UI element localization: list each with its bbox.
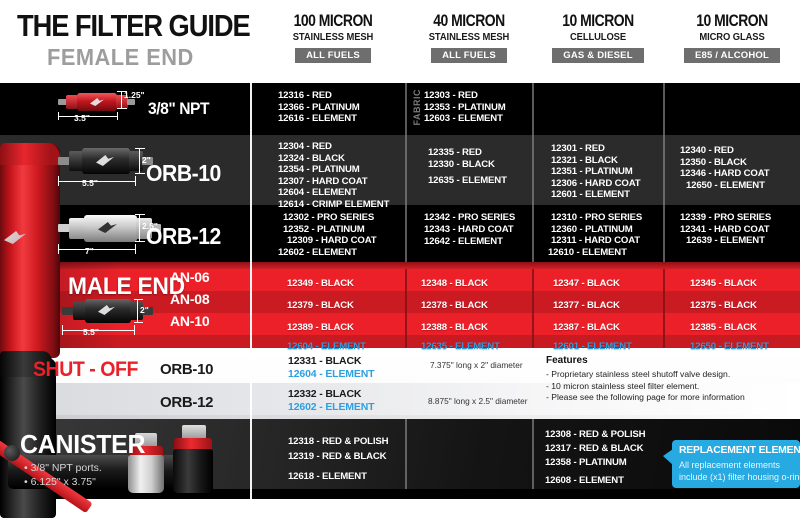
column-fuel-badge: ALL FUELS (295, 48, 371, 64)
part-line: 12339 - PRO SERIES (680, 212, 771, 224)
cell-male-100micron: 12349 - BLACK 12379 - BLACK 12389 - BLAC… (287, 273, 366, 355)
column-media-label: STAINLESS MESH (410, 32, 528, 43)
guide-table: 3.5" 1.25" 5.5" 2" (0, 83, 800, 499)
element-line: 12604 - ELEMENT (278, 187, 389, 199)
part-line: 12345 - BLACK (690, 273, 769, 295)
part-line: 12385 - BLACK (690, 317, 769, 339)
row-label-orb10: ORB-10 (146, 160, 221, 187)
part-line: 12375 - BLACK (690, 295, 769, 317)
column-media-label: STAINLESS MESH (265, 32, 400, 43)
part-line: 12341 - HARD COAT (680, 224, 771, 236)
column-header-40-micron: 40 MICRON STAINLESS MESH ALL FUELS (406, 12, 532, 63)
part-line: 12347 - BLACK (553, 273, 632, 295)
cell-orb12-100micron: 12302 - PRO SERIES 12352 - PLATINUM 1230… (283, 212, 377, 258)
cell-orb10-10micron-cellulose: 12301 - RED 12321 - BLACK 12351 - PLATIN… (551, 143, 641, 201)
feature-line: - Please see the following page for more… (546, 392, 745, 404)
cell-orb12-10micron-cellulose: 12310 - PRO SERIES 12360 - PLATINUM 1231… (551, 212, 642, 258)
main-vertical-divider (250, 83, 252, 499)
part-line: 12309 - HARD COAT (287, 235, 377, 247)
part-line: 12387 - BLACK (553, 317, 632, 339)
section-subtitle-female-end: FEMALE END (47, 44, 194, 71)
section-title-male-end: MALE END (68, 273, 185, 301)
part-line: 12352 - PLATINUM (283, 224, 377, 236)
column-micron-label: 10 MICRON (676, 12, 788, 30)
row-label-shutoff-orb10: ORB-10 (160, 361, 213, 378)
part-line: 12324 - BLACK (278, 153, 389, 165)
red-canister-cap (0, 143, 60, 165)
features-list: - Proprietary stainless steel shutoff va… (546, 369, 745, 404)
part-line: 12321 - BLACK (551, 155, 641, 167)
red-canister-photo (0, 143, 60, 358)
callout-heading: REPLACEMENT ELEMENTS (679, 445, 800, 456)
part-line: 12332 - BLACK (288, 388, 374, 401)
cell-orb10-40micron: 12335 - RED 12330 - BLACK 12635 - ELEMEN… (428, 147, 507, 187)
part-line: 12308 - RED & POLISH (545, 428, 645, 442)
column-divider-2 (532, 83, 534, 262)
column-header-10-micron-micro-glass: 10 MICRON MICRO GLASS E85 / ALCOHOL (664, 12, 800, 63)
column-fuel-badge: ALL FUELS (431, 48, 507, 64)
part-line: 12388 - BLACK (421, 317, 500, 339)
element-line: 12616 - ELEMENT (278, 113, 360, 125)
header: THE FILTER GUIDE FEMALE END 100 MICRON S… (0, 0, 800, 83)
canister-bullets: • 3/8" NPT ports. • 6.125" x 3.75" (24, 461, 102, 489)
callout-body: All replacement elements include (x1) fi… (679, 460, 800, 483)
part-line: 12335 - RED (428, 147, 507, 159)
column-micron-label: 10 MICRON (545, 12, 652, 30)
element-line: 12601 - ELEMENT (553, 339, 632, 355)
column-divider-canister-1 (405, 419, 407, 489)
part-line: 12331 - BLACK (288, 355, 374, 368)
part-line: 12319 - RED & BLACK (288, 449, 388, 464)
part-line: 12351 - PLATINUM (551, 166, 641, 178)
part-line: 12350 - BLACK (680, 157, 770, 169)
column-media-label: MICRO GLASS (668, 32, 796, 43)
part-line: 12303 - RED (424, 90, 506, 102)
row-label-npt: 3/8" NPT (148, 99, 209, 119)
canister-bullet-1: • 3/8" NPT ports. (24, 461, 102, 475)
part-line: 12389 - BLACK (287, 317, 366, 339)
part-line: 12317 - RED & BLACK (545, 442, 645, 456)
part-line: 12353 - PLATINUM (424, 102, 506, 114)
feature-line: - 10 micron stainless steel filter eleme… (546, 381, 745, 393)
cell-male-40micron: 12348 - BLACK 12378 - BLACK 12388 - BLAC… (421, 273, 500, 355)
column-micron-label: 100 MICRON (274, 12, 392, 30)
cell-npt-100micron: 12316 - RED 12366 - PLATINUM 12616 - ELE… (278, 90, 360, 125)
fabric-tag: FABRIC (412, 89, 422, 126)
section-title-shut-off: SHUT - OFF (33, 358, 138, 382)
part-line: 12310 - PRO SERIES (551, 212, 642, 224)
element-line: 12603 - ELEMENT (424, 113, 506, 125)
shutoff-dims-orb12: 8.875" long x 2.5" diameter (428, 396, 528, 406)
column-header-10-micron-cellulose: 10 MICRON CELLULOSE GAS & DIESEL (533, 12, 663, 63)
part-line: 12316 - RED (278, 90, 360, 102)
feature-line: - Proprietary stainless steel shutoff va… (546, 369, 745, 381)
element-line: 12650 - ELEMENT (690, 339, 769, 355)
part-line: 12366 - PLATINUM (278, 102, 360, 114)
element-line: 12614 - CRIMP ELEMENT (278, 199, 389, 211)
part-line: 12330 - BLACK (428, 159, 507, 171)
column-micron-label: 40 MICRON (417, 12, 520, 30)
element-line: 12601 - ELEMENT (551, 189, 641, 201)
part-line: 12302 - PRO SERIES (283, 212, 377, 224)
element-line: 12602 - ELEMENT (278, 247, 377, 259)
column-divider-3 (663, 83, 665, 262)
part-line: 12304 - RED (278, 141, 389, 153)
page-title: THE FILTER GUIDE (17, 8, 250, 44)
column-fuel-badge: E85 / ALCOHOL (684, 48, 780, 64)
dim-length-label: 7" (85, 246, 94, 256)
part-line: 12377 - BLACK (553, 295, 632, 317)
element-line: 12610 - ELEMENT (548, 247, 642, 259)
column-divider-male-2 (532, 269, 534, 348)
part-line: 12354 - PLATINUM (278, 164, 389, 176)
part-line: 12349 - BLACK (287, 273, 366, 295)
part-line: 12306 - HARD COAT (551, 178, 641, 190)
column-header-100-micron: 100 MICRON STAINLESS MESH ALL FUELS (261, 12, 405, 63)
callout-body-line-2: include (x1) filter housing o-ring (679, 472, 800, 484)
dim-length-label: 5.5" (82, 178, 98, 188)
callout-body-line-1: All replacement elements (679, 460, 800, 472)
cell-shutoff-orb10: 12331 - BLACK 12604 - ELEMENT (288, 355, 374, 381)
dim-length-label: 3.5" (74, 113, 90, 123)
column-divider-1 (405, 83, 407, 262)
column-divider-canister-2 (532, 419, 534, 489)
cell-npt-40micron: 12303 - RED 12353 - PLATINUM 12603 - ELE… (424, 90, 506, 125)
dim-diameter-label: 1.25" (124, 90, 145, 100)
row-label-an06: AN-06 (170, 269, 209, 285)
cell-orb10-100micron: 12304 - RED 12324 - BLACK 12354 - PLATIN… (278, 141, 389, 211)
part-line: 12342 - PRO SERIES (424, 212, 515, 224)
element-line: 12642 - ELEMENT (424, 236, 515, 248)
replacement-elements-callout: REPLACEMENT ELEMENTS All replacement ele… (672, 440, 800, 488)
shutoff-dims-orb10: 7.375" long x 2" diameter (430, 360, 523, 370)
dim-length-label: 5.5" (83, 327, 99, 337)
column-divider-male-3 (663, 269, 665, 348)
canister-bottom-edge (0, 489, 800, 499)
features-heading: Features (546, 355, 588, 366)
part-line: 12311 - HARD COAT (551, 235, 642, 247)
cell-orb12-40micron: 12342 - PRO SERIES 12343 - HARD COAT 126… (424, 212, 515, 248)
row-label-shutoff-orb12: ORB-12 (160, 394, 213, 411)
cell-canister-10micron-cellulose: 12308 - RED & POLISH 12317 - RED & BLACK… (545, 428, 645, 488)
row-label-orb12: ORB-12 (146, 223, 221, 250)
part-line: 12360 - PLATINUM (551, 224, 642, 236)
row-label-an08: AN-08 (170, 291, 209, 307)
cell-orb10-10micron-microglass: 12340 - RED 12350 - BLACK 12346 - HARD C… (680, 145, 770, 191)
element-line: 12635 - ELEMENT (428, 175, 507, 187)
dim-diameter-label: 2" (140, 305, 149, 315)
element-line: 12602 - ELEMENT (288, 401, 374, 414)
part-line: 12340 - RED (680, 145, 770, 157)
row-label-an10: AN-10 (170, 313, 209, 329)
element-line: 12639 - ELEMENT (686, 235, 771, 247)
element-line: 12618 - ELEMENT (288, 469, 388, 484)
part-line: 12343 - HARD COAT (424, 224, 515, 236)
part-line: 12358 - PLATINUM (545, 456, 645, 470)
cell-canister-100micron: 12318 - RED & POLISH 12319 - RED & BLACK… (288, 434, 388, 484)
part-line: 12348 - BLACK (421, 273, 500, 295)
part-line: 12346 - HARD COAT (680, 168, 770, 180)
part-line: 12301 - RED (551, 143, 641, 155)
element-line: 12635 - ELEMENT (421, 339, 500, 355)
part-line: 12318 - RED & POLISH (288, 434, 388, 449)
cell-male-10micron-microglass: 12345 - BLACK 12375 - BLACK 12385 - BLAC… (690, 273, 769, 355)
part-line: 12379 - BLACK (287, 295, 366, 317)
cell-orb12-10micron-microglass: 12339 - PRO SERIES 12341 - HARD COAT 126… (680, 212, 771, 247)
cell-shutoff-orb12: 12332 - BLACK 12602 - ELEMENT (288, 388, 374, 414)
section-title-canister: CANISTER (20, 429, 145, 460)
canister-bullet-2: • 6.125" x 3.75" (24, 475, 102, 489)
canister-photo-black (173, 425, 213, 493)
element-line: 12650 - ELEMENT (686, 180, 770, 192)
element-line: 12604 - ELEMENT (288, 368, 374, 381)
shutoff-valve-knob (4, 445, 20, 461)
part-line: 12378 - BLACK (421, 295, 500, 317)
column-fuel-badge: GAS & DIESEL (552, 48, 643, 64)
element-line: 12608 - ELEMENT (545, 474, 645, 488)
column-divider-male-1 (405, 269, 407, 348)
filter-guide-sheet: THE FILTER GUIDE FEMALE END 100 MICRON S… (0, 0, 800, 499)
part-line: 12307 - HARD COAT (278, 176, 389, 188)
cell-male-10micron-cellulose: 12347 - BLACK 12377 - BLACK 12387 - BLAC… (553, 273, 632, 355)
element-line: 12604 - ELEMENT (287, 339, 366, 355)
column-media-label: CELLULOSE (537, 32, 659, 43)
